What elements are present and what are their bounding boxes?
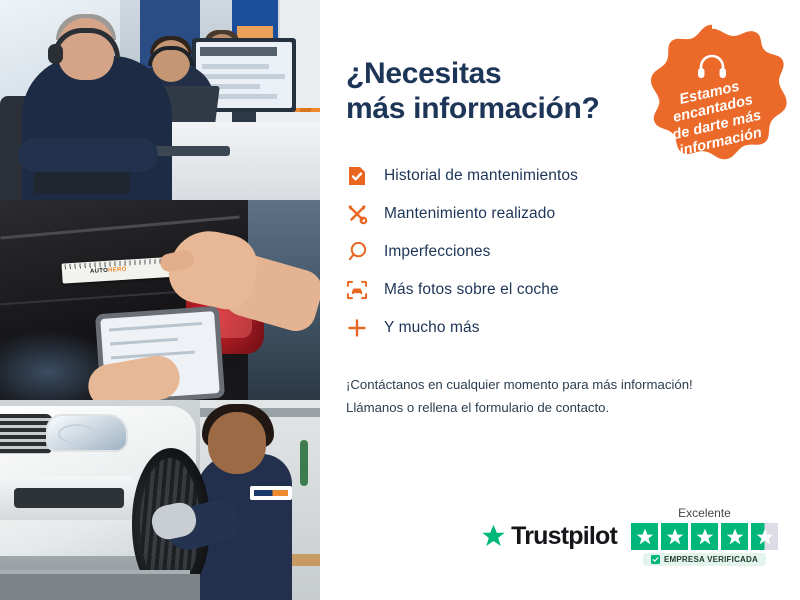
feature-label: Imperfecciones — [384, 243, 491, 261]
list-item: Más fotos sobre el coche — [346, 271, 766, 309]
feature-label: Más fotos sobre el coche — [384, 281, 559, 299]
feature-label: Y mucho más — [384, 319, 480, 337]
agent-one-earcup — [48, 44, 63, 64]
verified-badge: EMPRESA VERIFICADA — [643, 553, 766, 566]
lift-platform — [0, 574, 200, 600]
star-filled — [691, 523, 718, 550]
badge-encantados: Estamos encantados de darte más informac… — [632, 24, 792, 184]
contact-line-2: Llámanos o rellena el formulario de cont… — [346, 396, 766, 419]
screen-line — [202, 74, 285, 79]
headline-line-1: ¿Necesitas — [346, 56, 616, 91]
rating-word: Excelente — [678, 506, 731, 520]
tools-cross-icon — [346, 203, 368, 225]
car-scan-icon — [346, 279, 368, 301]
tablet-line — [110, 338, 178, 346]
screen-header-bar — [200, 47, 277, 56]
trustpilot-brand: Trustpilot — [511, 522, 617, 551]
star-half — [751, 523, 778, 550]
star-filled — [721, 523, 748, 550]
trustpilot-star-icon — [480, 523, 507, 550]
feature-label: Historial de mantenimientos — [384, 167, 578, 185]
content-panel: ¿Necesitas más información? Estamos enca… — [320, 0, 800, 600]
magnifier-icon — [346, 241, 368, 263]
rating-block: Excelente EMPRESA VERIFICADA — [631, 506, 778, 566]
document-check-icon — [346, 165, 368, 187]
autohero-logo: AUTOHERO — [90, 267, 127, 275]
car-headlight — [46, 414, 128, 452]
promo-banner: AUTOHERO — [0, 0, 800, 600]
screen-line — [202, 64, 269, 69]
plus-icon — [346, 317, 368, 339]
list-item: Y mucho más — [346, 309, 766, 347]
bumper-vent — [14, 488, 124, 508]
list-item: Imperfecciones — [346, 233, 766, 271]
desk-tablet — [34, 172, 130, 194]
photo-call-centre — [0, 0, 320, 200]
trustpilot-logo: Trustpilot — [480, 522, 617, 551]
photo-column: AUTOHERO — [0, 0, 320, 600]
tablet-line — [109, 322, 202, 332]
star-filled — [661, 523, 688, 550]
photo-wheel-inspection — [0, 400, 320, 600]
trustpilot-rating[interactable]: Trustpilot Excelente EMPRESA VERIFICAD — [480, 506, 778, 566]
verified-label: EMPRESA VERIFICADA — [664, 555, 758, 564]
verified-check-icon — [651, 555, 660, 564]
car-grille — [0, 414, 52, 454]
feature-label: Mantenimiento realizado — [384, 205, 555, 223]
page-title: ¿Necesitas más información? — [346, 56, 616, 127]
mechanic-head — [208, 412, 266, 474]
headline-line-2: más información? — [346, 91, 616, 126]
green-hose — [300, 440, 308, 486]
list-item: Mantenimiento realizado — [346, 195, 766, 233]
uniform-logo — [250, 486, 292, 500]
photo-car-inspection: AUTOHERO — [0, 200, 320, 400]
contact-line-1: ¡Contáctanos en cualquier momento para m… — [346, 373, 766, 396]
star-rating — [631, 523, 778, 550]
agent-one-arm — [18, 138, 158, 172]
contact-text: ¡Contáctanos en cualquier momento para m… — [346, 373, 766, 419]
star-filled — [631, 523, 658, 550]
